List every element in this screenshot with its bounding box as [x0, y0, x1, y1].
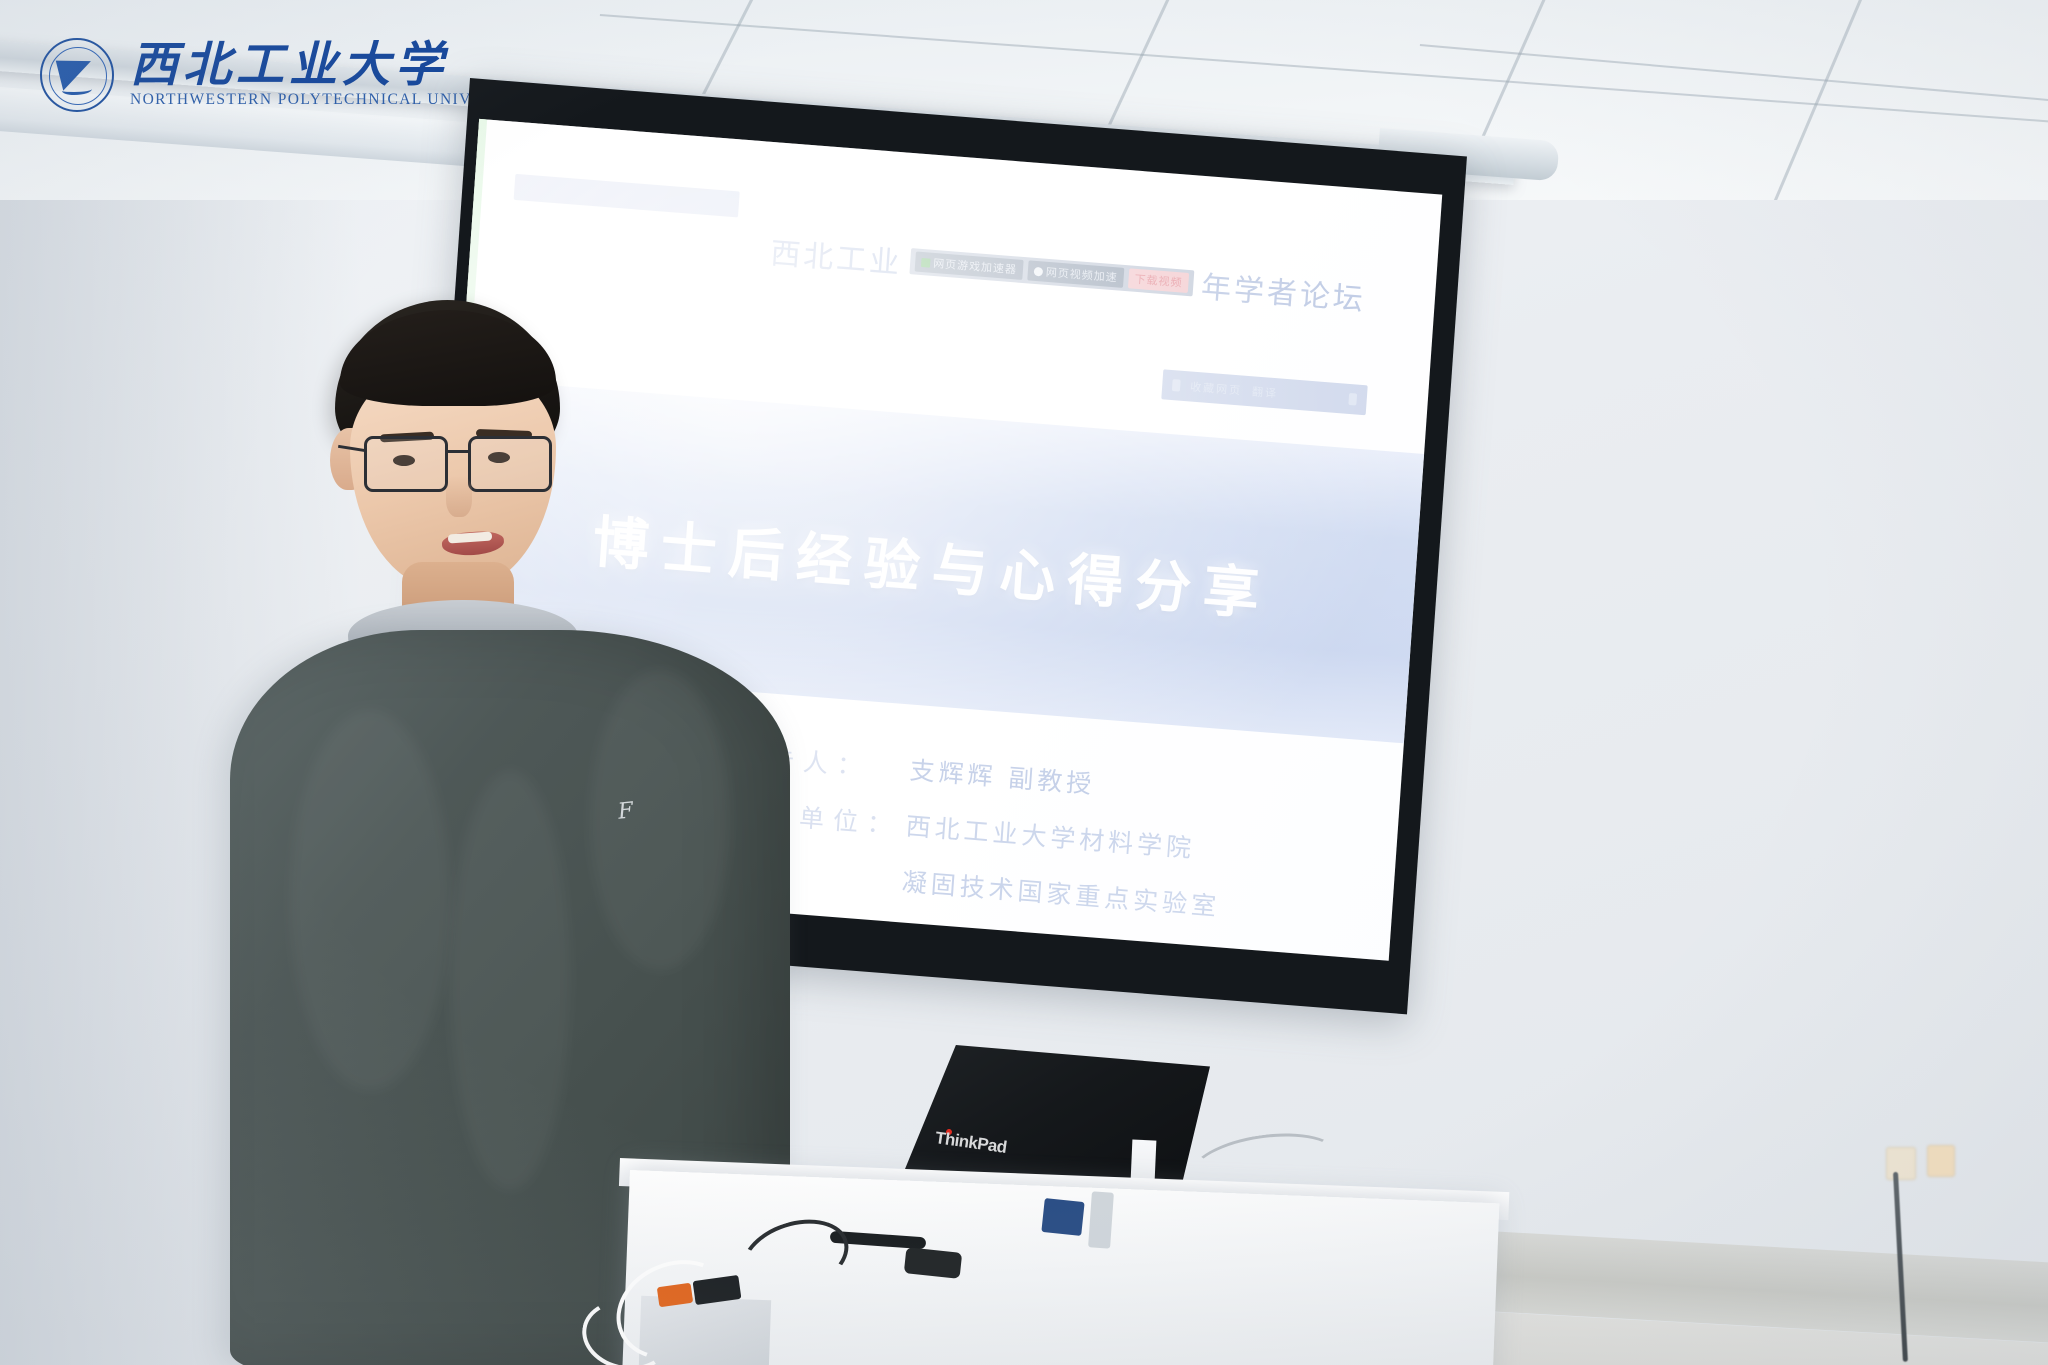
toolbar-chip-accelerator[interactable]: 网页游戏加速器 — [915, 252, 1024, 280]
browser-url-bar[interactable] — [514, 174, 740, 218]
fabric-fold — [450, 770, 570, 1190]
toolbar-chip-download[interactable]: 下载视频 — [1128, 268, 1189, 293]
lens-left — [364, 436, 448, 492]
npu-logo: 西北工业大学 NORTHWESTERN POLYTECHNICAL UNIVER… — [40, 38, 534, 112]
vga-connector — [1041, 1198, 1084, 1236]
slide-header-line: 西北工业 网页游戏加速器 网页视频加速 下载视频 年学者论坛 — [769, 222, 1411, 328]
fabric-fold — [290, 710, 450, 1090]
browser-widget-bar[interactable]: 收藏网页 翻译 — [1161, 369, 1367, 415]
wall-outlet[interactable] — [1886, 1147, 1916, 1180]
chevron-down-icon[interactable] — [1348, 393, 1357, 406]
widget-label-a[interactable]: 收藏网页 — [1190, 378, 1243, 398]
header-suffix: 年学者论坛 — [1200, 262, 1368, 319]
ceiling-grid-line — [1771, 0, 1883, 200]
connector-bracket — [1088, 1191, 1114, 1248]
nose — [446, 475, 472, 517]
bookmark-icon[interactable] — [1172, 379, 1181, 392]
hair-fringe — [340, 310, 556, 406]
wall-outlet[interactable] — [1927, 1145, 1955, 1177]
npu-seal-icon — [40, 38, 114, 112]
lens-right — [468, 436, 552, 492]
glasses-bridge — [448, 450, 470, 453]
header-prefix: 西北工业 — [769, 228, 904, 282]
wave-icon — [62, 85, 92, 95]
widget-label-b[interactable]: 翻译 — [1251, 383, 1278, 401]
sweater-brand-logo: F — [617, 798, 634, 824]
browser-extension-toolbar[interactable]: 网页游戏加速器 网页视频加速 下载视频 — [909, 248, 1194, 296]
toolbar-chip-video[interactable]: 网页视频加速 — [1027, 260, 1124, 287]
lecture-room-photo: 西北工业大学 NORTHWESTERN POLYTECHNICAL UNIVER… — [0, 0, 2048, 1365]
fabric-fold — [590, 670, 730, 970]
